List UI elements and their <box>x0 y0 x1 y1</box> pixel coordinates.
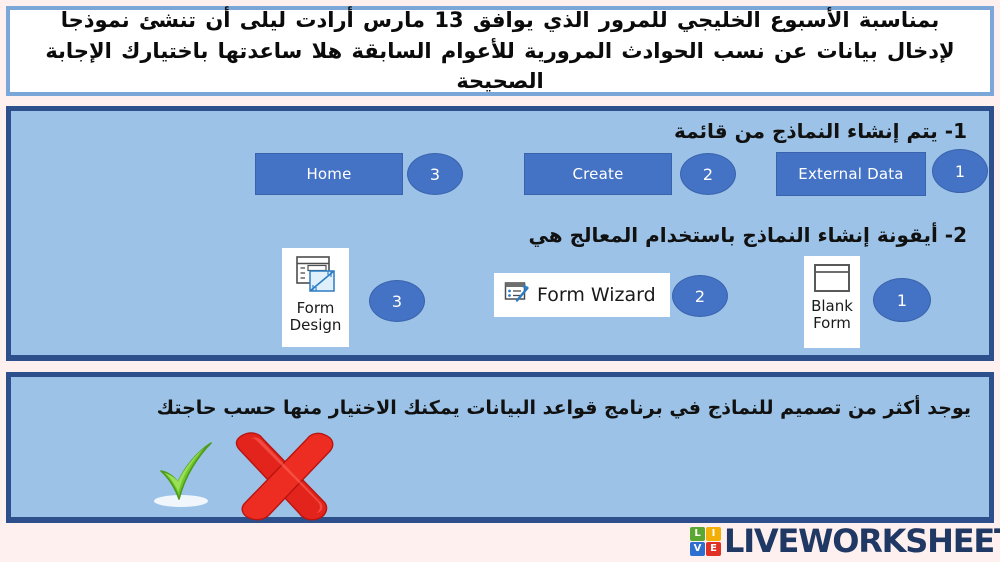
prompt-text: بمناسبة الأسبوع الخليجي للمرور الذي يواف… <box>24 5 976 96</box>
note-text: يوجد أكثر من تصميم للنماذج في برنامج قوا… <box>157 397 971 419</box>
form-wizard-icon <box>504 281 530 309</box>
form-design-icon <box>294 254 338 298</box>
green-check-icon <box>141 435 219 517</box>
option-button-external-data[interactable]: External Data <box>776 152 926 196</box>
logo-tile-i: I <box>706 527 721 541</box>
blank-form-icon <box>812 262 852 298</box>
prompt-box: بمناسبة الأسبوع الخليجي للمرور الذي يواف… <box>6 6 994 96</box>
logo-tile-e: E <box>706 542 721 556</box>
option-button-home[interactable]: Home <box>255 153 403 195</box>
option-number-badge-2[interactable]: 2 <box>680 153 736 195</box>
logo-tiles: L I V E <box>690 527 721 556</box>
option-number-badge-3-q2[interactable]: 3 <box>369 280 425 322</box>
option-card-form-design[interactable]: Form Design <box>282 248 349 347</box>
form-design-caption-line1: Form <box>297 300 335 317</box>
option-number-badge-1[interactable]: 1 <box>932 149 988 193</box>
form-design-caption-line2: Design <box>290 317 342 334</box>
blank-form-caption-line1: Blank <box>811 298 853 315</box>
logo-tile-v: V <box>690 542 705 556</box>
question-2-text: 2- أيقونة إنشاء النماذج باستخدام المعالج… <box>529 223 967 247</box>
option-card-form-wizard[interactable]: Form Wizard <box>494 273 670 317</box>
questions-panel: 1- يتم إنشاء النماذج من قائمة Home 3 Cre… <box>6 106 994 360</box>
note-panel: يوجد أكثر من تصميم للنماذج في برنامج قوا… <box>6 372 994 522</box>
form-wizard-label: Form Wizard <box>537 284 656 306</box>
red-cross-icon <box>229 427 339 527</box>
logo-wordmark: LIVEWORKSHEETS <box>724 525 1000 557</box>
logo-tile-l: L <box>690 527 705 541</box>
question-1-text: 1- يتم إنشاء النماذج من قائمة <box>674 119 967 143</box>
option-number-badge-3[interactable]: 3 <box>407 153 463 195</box>
option-number-badge-1-q2[interactable]: 1 <box>873 278 931 322</box>
blank-form-caption-line2: Form <box>813 315 851 332</box>
option-number-badge-2-q2[interactable]: 2 <box>672 275 728 317</box>
option-button-create[interactable]: Create <box>524 153 672 195</box>
option-card-blank-form[interactable]: Blank Form <box>804 256 860 348</box>
liveworksheets-logo: L I V E LIVEWORKSHEETS <box>690 524 1000 558</box>
